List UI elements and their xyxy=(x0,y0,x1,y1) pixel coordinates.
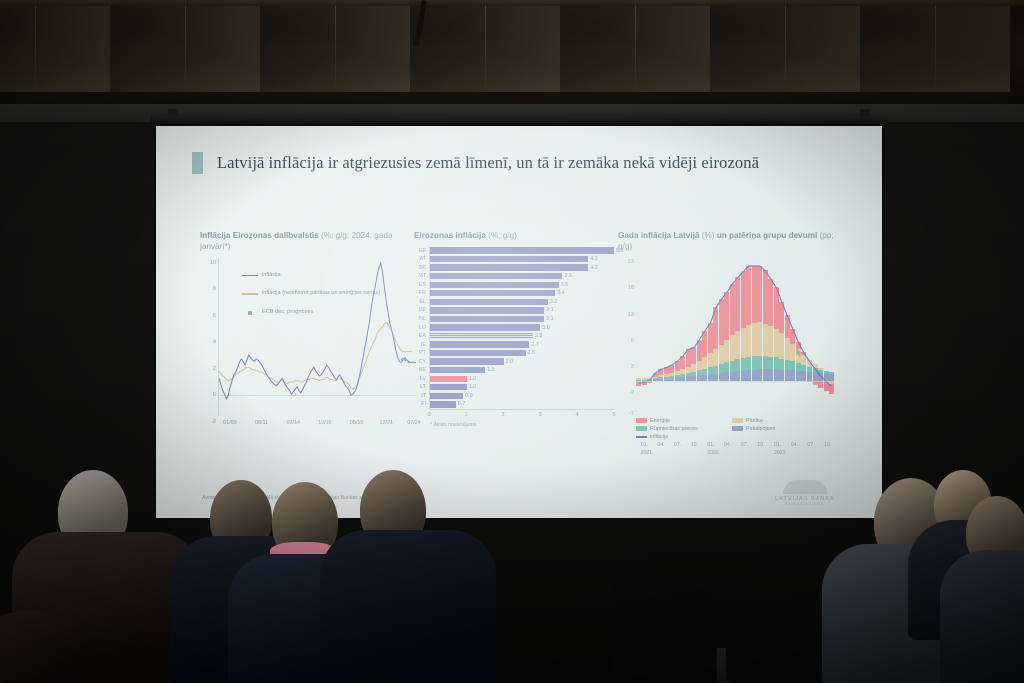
bar-value-label: 3.6 xyxy=(564,273,572,279)
x-tick-label: 10. xyxy=(824,442,831,448)
bar-value-label: 3.4 xyxy=(557,290,565,296)
x-tick-label: 01. xyxy=(707,442,714,448)
chart2-title: Eirozonas inflācija (%; g/g) xyxy=(414,230,614,241)
bar xyxy=(430,350,526,356)
conference-room-scene: Latvijā inflācija ir atgriezusies zemā l… xyxy=(0,0,1024,683)
chart1-plot: 10 8 6 4 2 0 -2 in xyxy=(200,258,416,432)
bar-track: 0.7 xyxy=(429,400,614,409)
chart1-legend: inflācija inflācija (neietverot pārtikas… xyxy=(242,272,382,328)
mouse-cursor-icon xyxy=(796,348,802,357)
bar-track: 5.0 xyxy=(429,246,614,255)
x-tick-label: 07. xyxy=(741,442,748,448)
bar-row: LV1.0 xyxy=(414,375,614,384)
x-year-label: 2022. xyxy=(707,450,720,456)
legend-item-pakalpojumi: Pakalpojumi xyxy=(732,426,820,432)
bar-track: 1.5 xyxy=(429,366,614,375)
audience-member-7 xyxy=(952,496,1024,683)
bar-track: 2.8 xyxy=(429,332,614,341)
bar xyxy=(430,299,548,305)
x-tick-label: 04. xyxy=(724,442,731,448)
bar-category-label: LT xyxy=(414,384,429,390)
bar xyxy=(430,273,562,279)
bar-category-label: AT xyxy=(414,256,429,262)
x-tick-label: 10. xyxy=(757,442,764,448)
slide-title-block: Latvijā inflācija ir atgriezusies zemā l… xyxy=(192,152,832,174)
x-year-label: 2021. xyxy=(641,450,654,456)
bar-category-label: MT xyxy=(414,273,429,279)
bar xyxy=(430,367,485,373)
bar xyxy=(430,324,540,330)
bar-row: EA2.8 xyxy=(414,332,614,341)
bar-track: 3.5 xyxy=(429,281,614,290)
bar-track: 0.9 xyxy=(429,392,614,401)
legend-item-ecb-forecast: ECB dec. prognozes xyxy=(242,309,382,317)
legend-item-inflacija-line: inflācija xyxy=(636,434,724,440)
bar-row: AT4.3 xyxy=(414,255,614,264)
chart2-x-axis: 0 1 2 3 4 5 xyxy=(429,409,614,421)
legend-line-icon xyxy=(242,293,258,295)
chart-panel-euro-area-bars: Eirozonas inflācija (%; g/g) EE5.0AT4.3S… xyxy=(414,230,614,424)
chart3-x-axis: 01.04.07.10.01.04.07.10.01.04.07.10.2021… xyxy=(636,442,836,462)
chart1-title: Inflācija Eirozonas dalībvalstīs (%; g/g… xyxy=(200,230,416,253)
chart1-x-axis: 01/09 08/11 03/14 10/16 05/19 12/21 07/2… xyxy=(218,418,416,432)
chart-panel-latvia-contributions: Gada inflācija Latvijā (%) un patēriņa g… xyxy=(618,230,836,462)
bar xyxy=(430,384,467,390)
legend-swatch-icon xyxy=(732,426,743,431)
bar-value-label: 4.3 xyxy=(590,256,598,262)
bar-value-label: 3.1 xyxy=(546,307,554,313)
legend-item-partika: Pārtika xyxy=(732,418,820,424)
bar xyxy=(430,256,588,262)
bar-track: 1.0 xyxy=(429,383,614,392)
x-tick-label: 04. xyxy=(657,442,664,448)
chart-panel-euro-area-line: Inflācija Eirozonas dalībvalstīs (%; g/g… xyxy=(200,230,416,432)
bar-track: 3.6 xyxy=(429,272,614,281)
bar-row: FI0.7 xyxy=(414,400,614,409)
x-tick-label: 01. xyxy=(774,442,781,448)
legend-item-rupniecibas-preces: Rūpniecības preces xyxy=(636,426,724,432)
bar-row: SK4.3 xyxy=(414,263,614,272)
bar-value-label: 3.0 xyxy=(542,325,550,331)
x-tick-label: 10. xyxy=(691,442,698,448)
bar-row: DE3.1 xyxy=(414,306,614,315)
legend-item-inflacija: inflācija xyxy=(242,272,382,280)
latvijas-banka-logo: LATVIJAS BANKA EUROSISTĒMA xyxy=(770,480,840,506)
bar-row: LT1.0 xyxy=(414,383,614,392)
bar-row: ES3.5 xyxy=(414,281,614,290)
audience-member-4 xyxy=(330,470,490,683)
legend-item-core-inflation: inflācija (neietverot pārtikas un enerģi… xyxy=(242,290,382,298)
bar-value-label: 3.1 xyxy=(546,316,554,322)
chart3-plot: 23 18 13 8 3 -2 -7 xyxy=(618,258,836,416)
chart2-plot: EE5.0AT4.3SK4.3MT3.6ES3.5FR3.4EL3.2DE3.1… xyxy=(414,246,614,424)
x-tick-label: 07. xyxy=(674,442,681,448)
bar-value-label: 4.3 xyxy=(590,265,598,271)
bar-row: EL3.2 xyxy=(414,298,614,307)
bar-track: 2.6 xyxy=(429,349,614,358)
bar-row: NL3.1 xyxy=(414,315,614,324)
bar-category-label: NL xyxy=(414,316,429,322)
bar xyxy=(430,282,559,288)
legend-line-icon xyxy=(242,275,258,277)
bar-track: 1.0 xyxy=(429,375,614,384)
bar-track: 3.2 xyxy=(429,298,614,307)
legend-dot-icon xyxy=(248,311,252,315)
x-tick-label: 01. xyxy=(641,442,648,448)
bar xyxy=(430,358,504,364)
bar-row: IT0.9 xyxy=(414,392,614,401)
presentation-slide: Latvijā inflācija ir atgriezusies zemā l… xyxy=(156,126,882,518)
bar-category-label: IT xyxy=(414,393,429,399)
chart3-legend: Enerģija Pārtika Rūpniecības preces xyxy=(618,418,836,462)
bar-row: CY2.0 xyxy=(414,357,614,366)
audience-member-foreground xyxy=(0,610,100,683)
slide-title: Latvijā inflācija ir atgriezusies zemā l… xyxy=(217,152,759,174)
bar-track: 2.0 xyxy=(429,357,614,366)
bar-value-label: 1.0 xyxy=(469,384,477,390)
bar-category-label: FI xyxy=(414,401,429,407)
bar-category-label: IE xyxy=(414,342,429,348)
chart3-columns-area xyxy=(636,258,834,416)
bar-value-label: 0.9 xyxy=(465,393,473,399)
bar-value-label: 0.7 xyxy=(458,401,466,407)
chart2-footnote: * Ātrais novērtējums xyxy=(430,422,614,428)
bar-value-label: 3.2 xyxy=(550,299,558,305)
bar-row: BE1.5 xyxy=(414,366,614,375)
bar-value-label: 1.5 xyxy=(487,367,495,373)
bar-track: 4.3 xyxy=(429,255,614,264)
bar-category-label: CY xyxy=(414,359,429,365)
legend-swatch-icon xyxy=(636,426,647,431)
bar-category-label: DE xyxy=(414,307,429,313)
bar-row: PT2.6 xyxy=(414,349,614,358)
bar-category-label: PT xyxy=(414,350,429,356)
bar-row: IE2.7 xyxy=(414,340,614,349)
chair-1 xyxy=(612,578,717,683)
chart3-title: Gada inflācija Latvijā (%) un patēriņa g… xyxy=(618,230,836,253)
chart1-y-axis: 10 8 6 4 2 0 -2 xyxy=(200,258,218,432)
bar-track: 3.4 xyxy=(429,289,614,298)
bar xyxy=(430,307,544,313)
bar-row: EE5.0 xyxy=(414,246,614,255)
bar xyxy=(430,333,533,339)
chart2-bar-rows: EE5.0AT4.3SK4.3MT3.6ES3.5FR3.4EL3.2DE3.1… xyxy=(414,246,614,408)
torso xyxy=(320,530,496,683)
bar xyxy=(430,290,555,296)
bar-category-label: FR xyxy=(414,290,429,296)
bar xyxy=(430,264,588,270)
bar-value-label: 2.7 xyxy=(531,342,539,348)
bar-category-label: EL xyxy=(414,299,429,305)
head xyxy=(0,610,90,683)
bar-category-label: BE xyxy=(414,367,429,373)
bar-row: LU3.0 xyxy=(414,323,614,332)
bar-track: 4.3 xyxy=(429,263,614,272)
bar-category-label: LV xyxy=(414,376,429,382)
bar-track: 3.1 xyxy=(429,315,614,324)
bar-track: 2.7 xyxy=(429,340,614,349)
bar xyxy=(430,247,614,253)
bar-value-label: 1.0 xyxy=(469,376,477,382)
bar-value-label: 3.5 xyxy=(561,282,569,288)
bar-track: 3.1 xyxy=(429,306,614,315)
dome-icon xyxy=(783,480,827,494)
bar-value-label: 2.0 xyxy=(506,359,514,365)
bar xyxy=(430,393,463,399)
bar xyxy=(430,376,467,382)
legend-line-icon xyxy=(636,436,647,438)
x-year-label: 2023. xyxy=(774,450,787,456)
bar-category-label: EA xyxy=(414,333,429,339)
bar-category-label: LU xyxy=(414,325,429,331)
chart3-y-axis: 23 18 13 8 3 -2 -7 xyxy=(618,258,636,416)
legend-item-energija: Enerģija xyxy=(636,418,724,424)
bar-value-label: 2.8 xyxy=(535,333,543,339)
bar-row: FR3.4 xyxy=(414,289,614,298)
chair-2 xyxy=(726,598,826,683)
bar-category-label: ES xyxy=(414,282,429,288)
bar xyxy=(430,401,456,407)
projection-screen: Latvijā inflācija ir atgriezusies zemā l… xyxy=(154,124,884,520)
legend-swatch-icon xyxy=(636,418,647,423)
bar-category-label: SK xyxy=(414,265,429,271)
torso xyxy=(940,550,1024,683)
bar xyxy=(430,341,529,347)
legend-swatch-icon xyxy=(732,418,743,423)
title-accent-bar xyxy=(192,152,203,174)
bar-category-label: EE xyxy=(414,248,429,254)
bar-value-label: 2.6 xyxy=(528,350,536,356)
bar xyxy=(430,316,544,322)
bar-row: MT3.6 xyxy=(414,272,614,281)
bar-track: 3.0 xyxy=(429,323,614,332)
x-tick-label: 07. xyxy=(807,442,814,448)
x-tick-label: 04. xyxy=(791,442,798,448)
